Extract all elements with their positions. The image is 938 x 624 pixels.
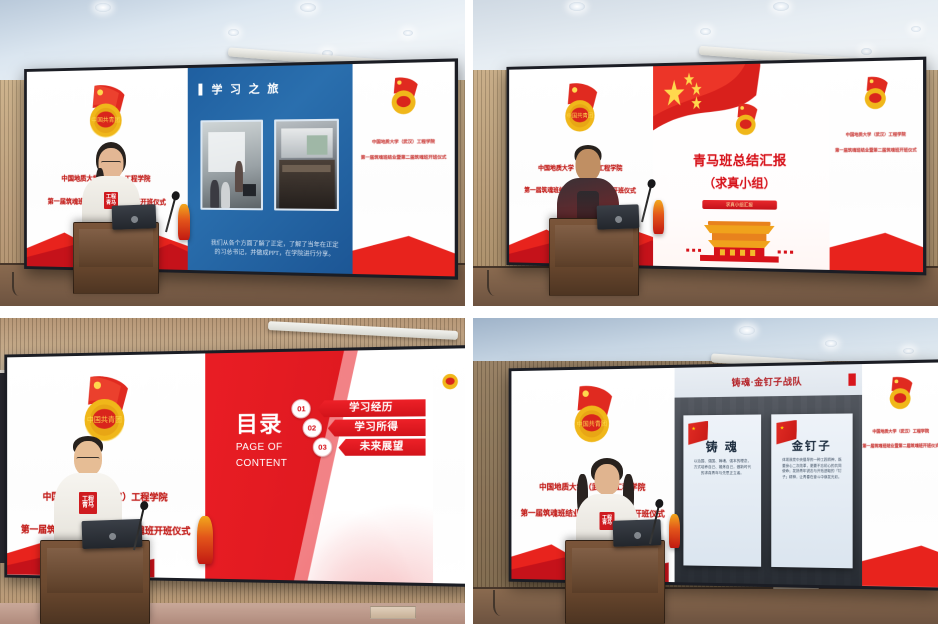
slide-team-intro: 铸魂·金钉子战队 ★ 铸 魂 以治国、强国、铸魂、强本的理念，方式培养自己、锻炼… <box>675 364 862 586</box>
slide-cover-ribbon: 求真小组汇报 <box>703 200 777 210</box>
toc-item-number: 03 <box>313 438 333 457</box>
slide-table-of-contents: 目录 PAGE OF CONTENT 01 学习经历 02 学习所得 03 <box>205 349 433 583</box>
laptop-icon <box>597 204 640 229</box>
downlight-icon <box>300 3 316 12</box>
glasses-icon <box>77 457 100 463</box>
team-card-body: 以治国、强国、铸魂、强本的理念，方式培养自己、锻炼自己，做新时代的求真青年与先思… <box>693 459 751 476</box>
backdrop-line-2: 第一届筑魂班结业暨第二届筑魂班开班仪式 <box>361 155 447 161</box>
cable <box>493 590 513 616</box>
tshirt-logo: 工程青马 <box>79 492 97 514</box>
slide-photo-meeting <box>274 119 339 211</box>
svg-text:中国共青团: 中国共青团 <box>577 419 607 428</box>
youth-league-emblem-icon: 中国共青团 <box>558 81 603 134</box>
star-icon: ★ <box>780 426 785 431</box>
podium <box>73 222 159 294</box>
youth-league-emblem-icon <box>860 75 892 111</box>
head <box>576 149 601 181</box>
decorative-lion-statue <box>653 200 664 234</box>
youth-league-emblem-icon <box>731 103 761 138</box>
youth-league-emblem-icon: 中国共青团 <box>565 384 618 445</box>
red-mountain-graphic <box>829 220 923 272</box>
backdrop-panel-right <box>433 348 465 583</box>
tiananmen-icon <box>685 213 796 263</box>
team-card: ★ 金钉子 体现我党中央倡导的一种工匠精神，既要身心二次改革，更要不忘初心的共同… <box>772 413 853 568</box>
jacket-front <box>577 191 599 221</box>
backdrop-line-1: 中国地质大学（武汉）工程学院 <box>846 131 906 138</box>
slide-learning-journey: 学 习 之 旅 我们从各个 <box>188 64 353 274</box>
stage-front <box>473 587 938 624</box>
slide-cover-title: 青马班总结汇报 <box>653 149 829 169</box>
toc-item-number: 02 <box>302 419 321 438</box>
youth-league-emblem-icon <box>438 364 462 391</box>
slide-title: 学 习 之 旅 <box>199 80 281 98</box>
photo-bottom-right[interactable]: 中国共青团 中国地质大学（武汉）工程学院 第一届筑魂班结业暨第二届筑魂班开班仪式… <box>473 318 938 624</box>
slide-cover: 青马班总结汇报 （求真小组） 求真小组汇报 <box>653 62 829 270</box>
decorative-lion-statue <box>197 516 213 564</box>
flag-icon <box>849 373 856 385</box>
toc-title-cn: 目录 <box>236 407 287 440</box>
downlight-icon <box>403 30 413 36</box>
toc-heading: 目录 PAGE OF CONTENT <box>236 407 287 471</box>
toc-item[interactable]: 01 学习经历 <box>292 398 426 419</box>
toc-item-number: 01 <box>292 399 311 418</box>
photo-collage: 中国共青团 中国地质大学（武汉）工程学院 第一届筑魂班结业暨第二届筑魂班开班仪式… <box>0 0 938 624</box>
slide-caption: 我们从各个方面了解了正定，了解了当年在正定的习总书记，并做成PPT，在学院进行分… <box>210 240 339 261</box>
slide-cover-subtitle: （求真小组） <box>653 174 829 192</box>
toc-item[interactable]: 03 未来展望 <box>313 437 426 457</box>
toc-title-en-2: CONTENT <box>236 458 287 471</box>
toc-item-label: 学习所得 <box>328 419 426 437</box>
slide-photo-classroom <box>200 120 263 210</box>
photo-bottom-left[interactable]: 中国共青团 中国地质大学（武汉）工程学院 第一届筑魂班结业暨第二届筑魂班开班仪式… <box>0 318 465 624</box>
cable <box>12 272 30 296</box>
backdrop-panel-right: 中国地质大学（武汉）工程学院 第一届筑魂班结业暨第二届筑魂班开班仪式 <box>862 362 938 587</box>
decorative-lion-statue <box>669 514 680 548</box>
podium <box>549 218 639 296</box>
youth-league-emblem-icon <box>385 76 422 116</box>
slide-team-title: 铸魂·金钉子战队 <box>675 373 862 389</box>
cable <box>487 270 507 296</box>
toc-item-list: 01 学习经历 02 学习所得 03 未来展望 <box>292 398 426 457</box>
photo-top-right[interactable]: 中国共青团 中国地质大学（武汉）工程学院 第一届筑魂班结业暨第二届筑魂班开班仪式 <box>473 0 938 306</box>
backdrop-line-2: 第一届筑魂班结业暨第二届筑魂班开班仪式 <box>862 443 938 449</box>
backdrop-line-1: 中国地质大学（武汉）工程学院 <box>372 139 435 146</box>
backdrop-line-2: 第一届筑魂班结业暨第二届筑魂班开班仪式 <box>835 147 917 154</box>
downlight-icon <box>773 2 789 11</box>
podium <box>40 540 150 624</box>
youth-league-emblem-icon <box>885 375 917 411</box>
downlight-icon <box>569 2 585 11</box>
laptop-icon <box>112 204 157 230</box>
backdrop-panel-right: 中国地质大学（武汉）工程学院 第一届筑魂班结业暨第二届筑魂班开班仪式 <box>829 60 923 272</box>
downlight-icon <box>700 28 711 35</box>
slide-photo-row <box>200 119 339 211</box>
downlight-icon <box>825 340 837 347</box>
glasses-icon <box>101 161 121 166</box>
downlight-icon <box>911 26 921 32</box>
red-mountain-graphic <box>862 533 938 588</box>
star-icon: ★ <box>691 427 695 432</box>
backdrop-panel-right: 中国地质大学（武汉）工程学院 第一届筑魂班结业暨第二届筑魂班开班仪式 <box>353 62 455 277</box>
downlight-icon <box>228 29 239 36</box>
podium <box>565 540 665 624</box>
photo-top-left[interactable]: 中国共青团 中国地质大学（武汉）工程学院 第一届筑魂班结业暨第二届筑魂班开班仪式… <box>0 0 465 306</box>
wall-plate <box>370 606 416 619</box>
youth-league-emblem-icon: 中国共青团 <box>74 373 135 444</box>
toc-swirl-decoration <box>289 489 432 583</box>
red-mountain-graphic <box>353 224 455 277</box>
backdrop-line-1: 中国地质大学（武汉）工程学院 <box>872 429 929 435</box>
downlight-icon <box>95 3 111 12</box>
decorative-lion-statue <box>178 204 190 240</box>
downlight-icon <box>861 48 872 55</box>
team-card-list: ★ 铸 魂 以治国、强国、铸魂、强本的理念，方式培养自己、锻炼自己，做新时代的求… <box>684 413 853 568</box>
downlight-icon <box>903 348 914 354</box>
svg-text:中国共青团: 中国共青团 <box>87 415 122 424</box>
downlight-icon <box>739 326 755 335</box>
head <box>595 464 620 495</box>
toc-item-label: 未来展望 <box>338 439 425 457</box>
youth-league-emblem-icon: 中国共青团 <box>82 83 131 140</box>
toc-item-label: 学习经历 <box>317 399 425 417</box>
team-card-body: 体现我党中央倡导的一种工匠精神，既要身心二次改革，更要不忘初心的共同使命；发扬青… <box>782 458 842 480</box>
team-card: ★ 铸 魂 以治国、强国、铸魂、强本的理念，方式培养自己、锻炼自己，做新时代的求… <box>684 414 762 566</box>
toc-item[interactable]: 02 学习所得 <box>302 418 425 438</box>
toc-title-en-1: PAGE OF <box>236 442 287 455</box>
